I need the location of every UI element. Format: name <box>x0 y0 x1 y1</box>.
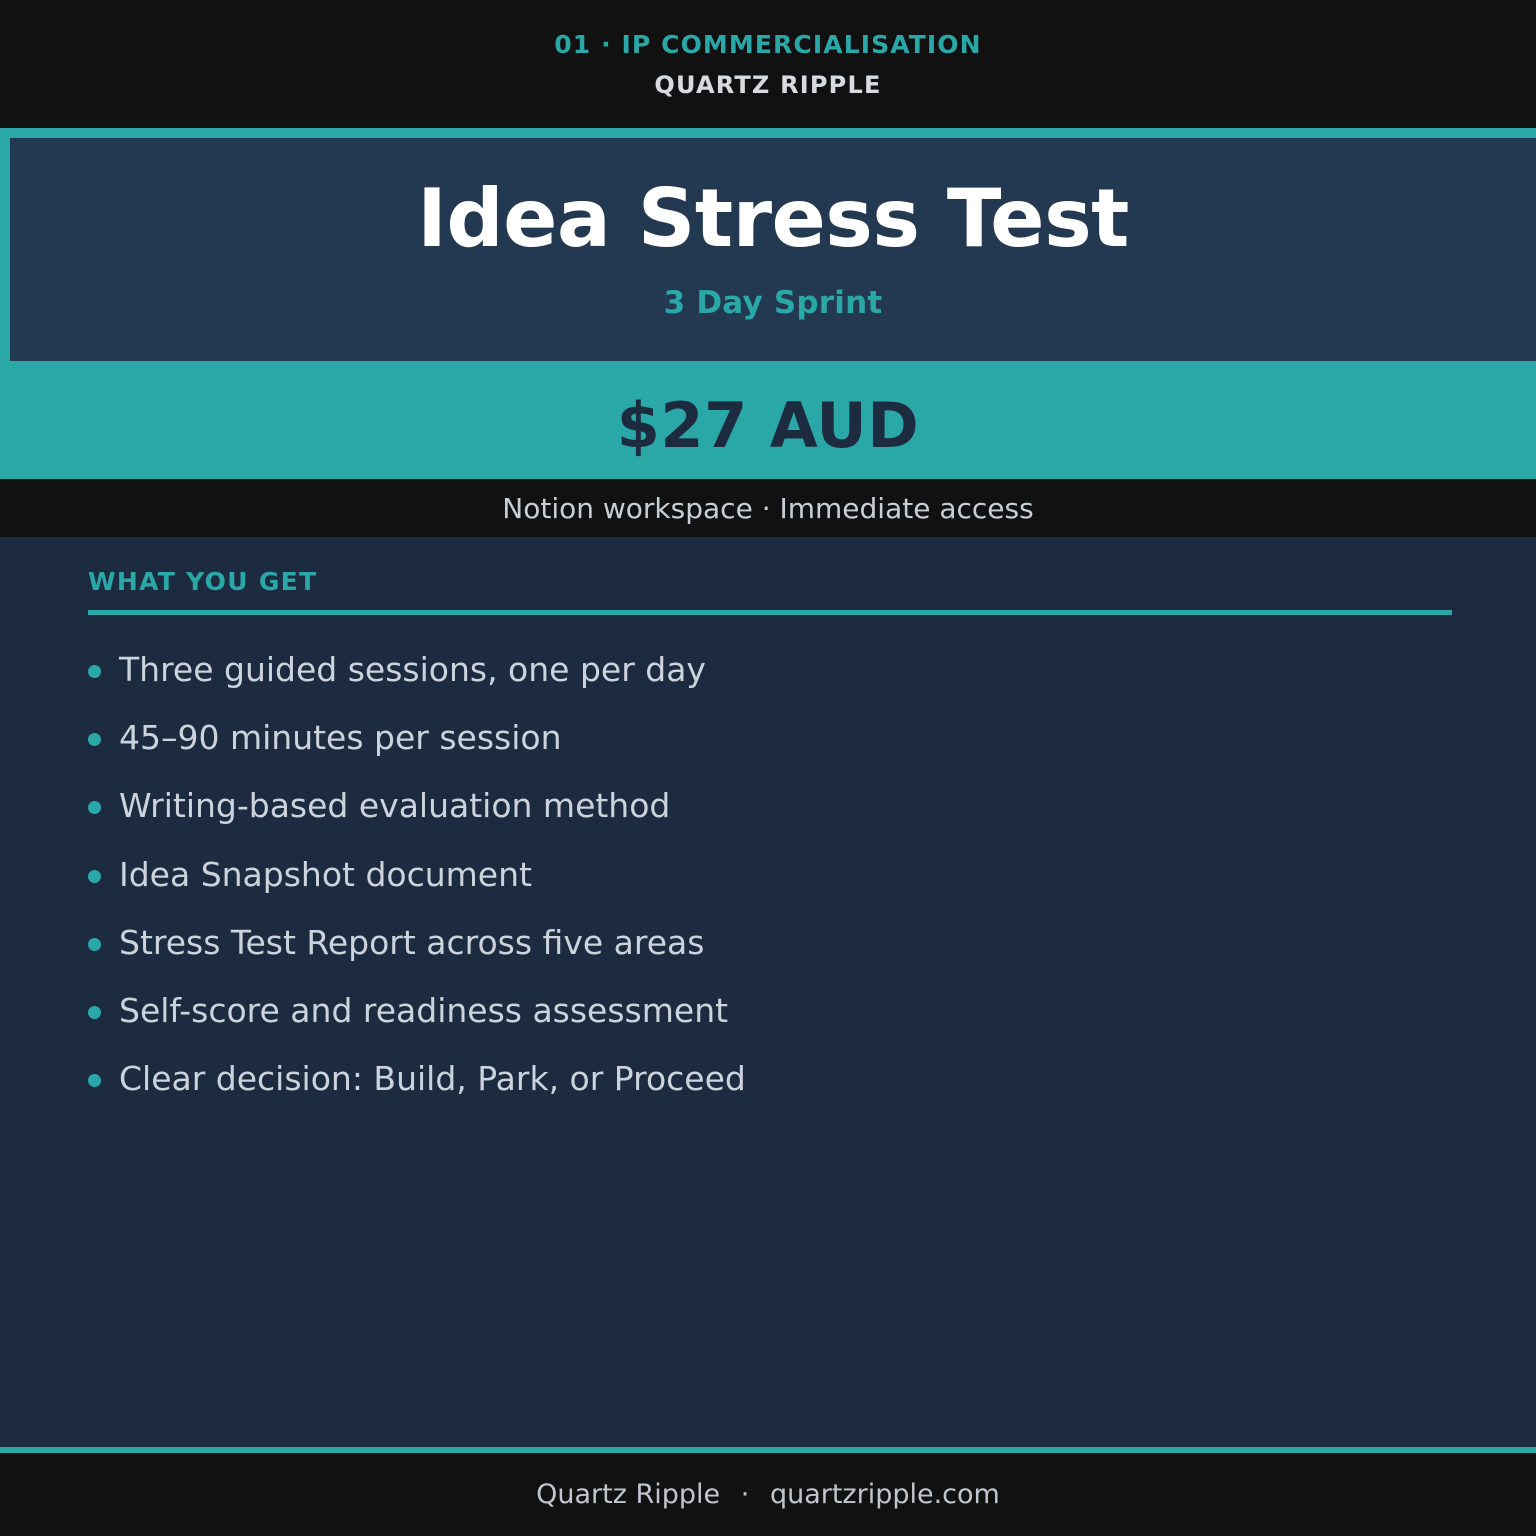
bullet-dot-icon <box>88 938 101 951</box>
product-card: 01 · IP COMMERCIALISATION QUARTZ RIPPLE … <box>0 0 1536 1536</box>
footer-brand: Quartz Ripple <box>536 1479 720 1510</box>
list-item-label: Writing-based evaluation method <box>119 785 670 827</box>
footer-content: Quartz Ripple · quartzripple.com <box>536 1479 1000 1510</box>
page-title: Idea Stress Test <box>417 178 1129 260</box>
list-item: Idea Snapshot document <box>88 854 1452 896</box>
list-item: Clear decision: Build, Park, or Proceed <box>88 1058 1452 1100</box>
list-item-label: Self-score and readiness assessment <box>119 990 728 1032</box>
list-item-label: 45–90 minutes per session <box>119 717 562 759</box>
bullet-dot-icon <box>88 870 101 883</box>
features-list: Three guided sessions, one per day 45–90… <box>88 649 1452 1127</box>
list-item-label: Clear decision: Build, Park, or Proceed <box>119 1058 746 1100</box>
top-bar: 01 · IP COMMERCIALISATION QUARTZ RIPPLE <box>0 0 1536 128</box>
list-item: Writing-based evaluation method <box>88 785 1452 827</box>
bullet-dot-icon <box>88 1074 101 1087</box>
hero-subtitle: 3 Day Sprint <box>664 285 883 321</box>
footer-website: quartzripple.com <box>770 1479 1000 1510</box>
kicker-label: 01 · IP COMMERCIALISATION <box>554 30 981 59</box>
hero-banner: Idea Stress Test 3 Day Sprint <box>0 128 1536 371</box>
features-heading: WHAT YOU GET <box>88 567 1452 596</box>
list-item: Three guided sessions, one per day <box>88 649 1452 691</box>
access-note: Notion workspace · Immediate access <box>502 492 1033 525</box>
list-item: 45–90 minutes per session <box>88 717 1452 759</box>
list-item-label: Three guided sessions, one per day <box>119 649 706 691</box>
bullet-dot-icon <box>88 665 101 678</box>
list-item: Stress Test Report across five areas <box>88 922 1452 964</box>
footer-separator: · <box>729 1479 762 1510</box>
price-band: $27 AUD <box>0 371 1536 479</box>
list-item-label: Idea Snapshot document <box>119 854 532 896</box>
footer-bar: Quartz Ripple · quartzripple.com <box>0 1447 1536 1536</box>
bullet-dot-icon <box>88 733 101 746</box>
section-divider <box>88 610 1452 615</box>
price-amount: $27 AUD <box>617 389 919 462</box>
brand-label: QUARTZ RIPPLE <box>654 71 881 99</box>
list-item-label: Stress Test Report across five areas <box>119 922 704 964</box>
features-section: WHAT YOU GET Three guided sessions, one … <box>0 537 1536 1447</box>
bullet-dot-icon <box>88 801 101 814</box>
list-item: Self-score and readiness assessment <box>88 990 1452 1032</box>
bullet-dot-icon <box>88 1006 101 1019</box>
access-bar: Notion workspace · Immediate access <box>0 479 1536 537</box>
